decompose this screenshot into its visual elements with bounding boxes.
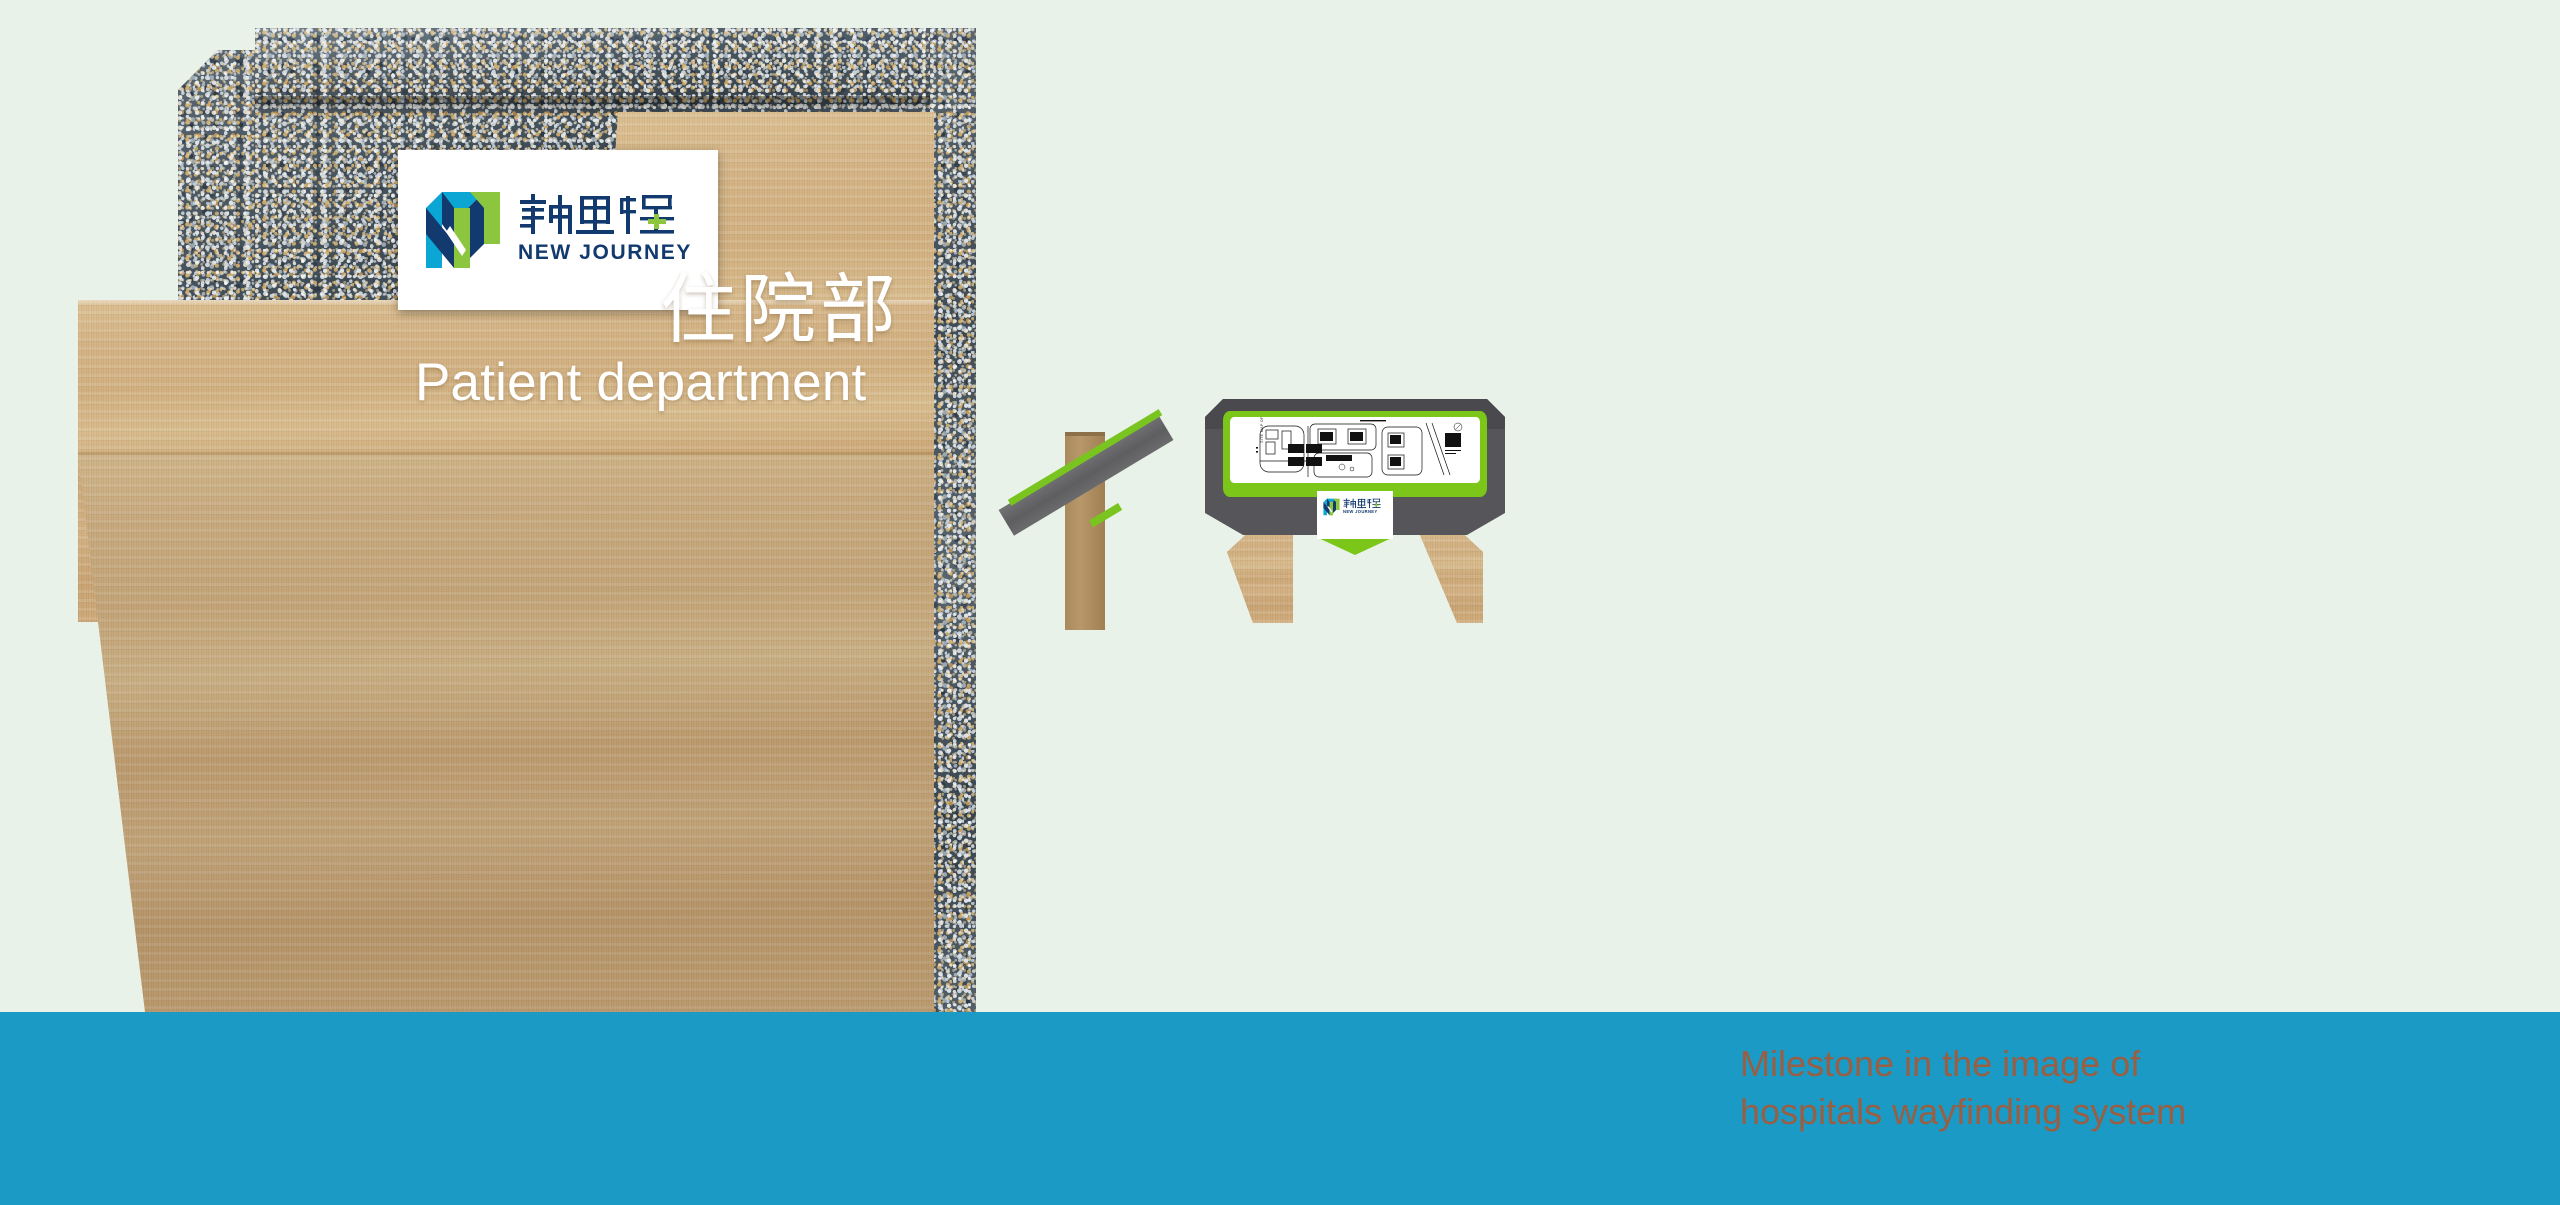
brand-wordmark: NEW JOURNEY [518,193,692,263]
direction-post-sign [995,400,1205,630]
map-sign-face: SITE MAP OF H.A.Z.T.M.K. GARDEN [1230,417,1480,483]
footer-caption-line-2: hospitals wayfinding system [1740,1088,2380,1136]
map-plaque-name-en: NEW JOURNEY [1343,510,1383,514]
sign-heading-en: Patient department [415,356,866,409]
brand-lockup: NEW JOURNEY [424,186,692,270]
scene-canvas: NEW JOURNEY 住院部 Patient department [0,0,2560,1205]
brand-name-cn-glyphs-small [1343,498,1383,509]
footer-caption-line-1: Milestone in the image of [1740,1040,2380,1088]
map-plaque-lockup: NEW JOURNEY [1323,496,1387,516]
new-journey-n-mark-icon-small [1323,497,1340,516]
granite-side-edge [930,28,976,1018]
map-plaque-wordmark: NEW JOURNEY [1343,498,1383,514]
brand-name-en: NEW JOURNEY [518,242,692,263]
site-plan-drawing-icon [1230,417,1480,483]
map-sign-leg-right [1417,528,1483,623]
footer-caption: Milestone in the image of hospitals wayf… [1740,1040,2380,1136]
map-sign-leg-left [1227,528,1293,623]
brand-name-cn-glyphs [518,193,684,237]
travertine-lower-panel [78,455,934,1020]
site-map-sign: SITE MAP OF H.A.Z.T.M.K. GARDEN [1205,395,1505,615]
sign-heading-cn: 住院部 [660,272,900,348]
new-journey-n-mark-icon [424,186,502,270]
map-sign-brand-plaque: NEW JOURNEY [1317,491,1393,539]
map-vertical-label: SITE MAP OF H.A.Z.T.M.K. GARDEN [1260,417,1264,443]
post-pole-cap [1065,432,1105,436]
